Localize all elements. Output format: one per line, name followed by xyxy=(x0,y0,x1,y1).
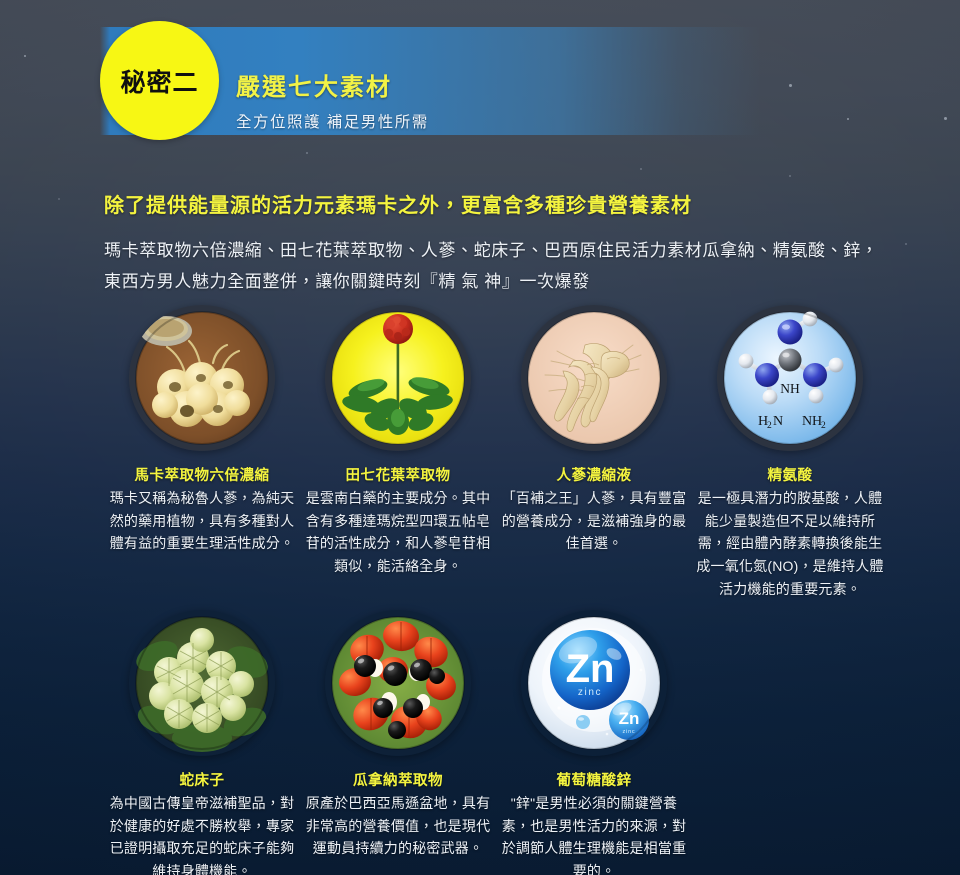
ingredient-card: NH H2N NH2 精氨酸 是一極具潛力的胺基酸，人體能少量製造但不足以維持所… xyxy=(692,305,888,600)
star-speck xyxy=(640,168,642,170)
ingredient-card: Zn zinc Zn zinc 葡萄糖酸鋅 xyxy=(496,610,692,875)
svg-text:2: 2 xyxy=(821,421,826,431)
ingredient-card: 田七花葉萃取物 是雲南白藥的主要成分。其中含有多種達瑪烷型四環五帖皂苷的活性成分… xyxy=(300,305,496,600)
intro-heading: 除了提供能量源的活力元素瑪卡之外，更富含多種珍貴營養素材 xyxy=(104,193,884,219)
page-root: 嚴選七大素材 全方位照護 補足男性所需 秘密二 除了提供能量源的活力元素瑪卡之外… xyxy=(0,0,960,875)
ingredient-title: 瓜拿納萃取物 xyxy=(353,769,443,790)
svg-text:zinc: zinc xyxy=(623,729,636,735)
ingredient-card-placeholder xyxy=(692,610,888,875)
ingredient-description: 原產於巴西亞馬遜盆地，具有非常高的營養價值，也是現代運動員持續力的秘密武器。 xyxy=(304,792,492,860)
ingredient-description: 是一極具潛力的胺基酸，人體能少量製造但不足以維持所需，經由體內酵素轉換後能生成一… xyxy=(696,487,884,600)
star-speck xyxy=(306,152,308,154)
guarana-fruit-icon xyxy=(325,610,471,756)
svg-text:Zn: Zn xyxy=(566,647,615,691)
star-speck xyxy=(905,243,907,245)
svg-text:Zn: Zn xyxy=(619,709,640,728)
zinc-element-icon: Zn zinc Zn zinc xyxy=(521,610,667,756)
banner-title: 嚴選七大素材 xyxy=(236,75,756,101)
banner-subtitle: 全方位照護 補足男性所需 xyxy=(236,110,756,132)
svg-text:N: N xyxy=(773,414,783,429)
intro-block: 除了提供能量源的活力元素瑪卡之外，更富含多種珍貴營養素材 瑪卡萃取物六倍濃縮、田… xyxy=(104,193,884,298)
ingredient-card: 馬卡萃取物六倍濃縮 瑪卡又稱為秘魯人蔘，為純天然的藥用植物，具有多種對人體有益的… xyxy=(104,305,300,600)
svg-text:zinc: zinc xyxy=(578,687,602,698)
ginseng-root-icon xyxy=(521,305,667,451)
ingredient-row-second: 蛇床子 為中國古傳皇帝滋補聖品，對於健康的好處不勝枚舉，專家已證明攝取充足的蛇床… xyxy=(104,610,888,875)
svg-text:N: N xyxy=(802,414,812,429)
ingredient-description: "鋅"是男性必須的關鍵營養素，也是男性活力的來源，對於調節人體生理機能是相當重要… xyxy=(500,792,688,875)
ingredient-title: 馬卡萃取物六倍濃縮 xyxy=(135,464,270,485)
svg-text:2: 2 xyxy=(767,421,772,431)
ingredient-title: 人蔘濃縮液 xyxy=(557,464,632,485)
arginine-molecule-icon: NH H2N NH2 xyxy=(717,305,863,451)
svg-text:NH: NH xyxy=(780,381,800,396)
ingredient-title: 精氨酸 xyxy=(768,464,813,485)
banner-text-block: 嚴選七大素材 全方位照護 補足男性所需 xyxy=(236,75,756,132)
notoginseng-flower-icon xyxy=(325,305,471,451)
ingredient-title: 蛇床子 xyxy=(180,769,225,790)
ingredient-title: 田七花葉萃取物 xyxy=(346,464,451,485)
intro-body: 瑪卡萃取物六倍濃縮、田七花葉萃取物、人蔘、蛇床子、巴西原住民活力素材瓜拿納、精氨… xyxy=(104,235,884,298)
ingredient-card: 人蔘濃縮液 「百補之王」人蔘，具有豐富的營養成分，是滋補強身的最佳首選。 xyxy=(496,305,692,600)
ingredient-title: 葡萄糖酸鋅 xyxy=(557,769,632,790)
ingredient-card: 蛇床子 為中國古傳皇帝滋補聖品，對於健康的好處不勝枚舉，專家已證明攝取充足的蛇床… xyxy=(104,610,300,875)
secret-badge: 秘密二 xyxy=(100,21,219,140)
maca-root-icon xyxy=(129,305,275,451)
ingredient-description: 瑪卡又稱為秘魯人蔘，為純天然的藥用植物，具有多種對人體有益的重要生理活性成分。 xyxy=(108,487,296,555)
cnidium-flower-icon xyxy=(129,610,275,756)
ingredient-description: 為中國古傳皇帝滋補聖品，對於健康的好處不勝枚舉，專家已證明攝取充足的蛇床子能夠維… xyxy=(108,792,296,875)
star-speck xyxy=(789,175,791,177)
star-speck xyxy=(58,198,60,200)
ingredient-description: 是雲南白藥的主要成分。其中含有多種達瑪烷型四環五帖皂苷的活性成分，和人蔘皂苷相類… xyxy=(304,487,492,578)
ingredient-card: 瓜拿納萃取物 原產於巴西亞馬遜盆地，具有非常高的營養價值，也是現代運動員持續力的… xyxy=(300,610,496,875)
ingredient-description: 「百補之王」人蔘，具有豐富的營養成分，是滋補強身的最佳首選。 xyxy=(500,487,688,555)
secret-badge-label: 秘密二 xyxy=(120,63,198,99)
ingredient-row-first: 馬卡萃取物六倍濃縮 瑪卡又稱為秘魯人蔘，為純天然的藥用植物，具有多種對人體有益的… xyxy=(104,305,888,600)
